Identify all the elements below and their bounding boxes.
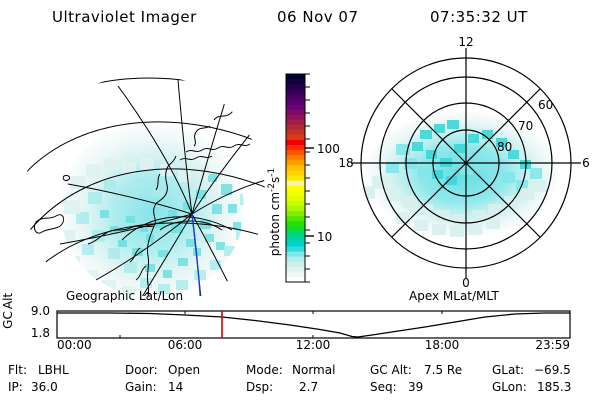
observation-time: 07:35:32 UT: [430, 8, 528, 26]
status-gain-val: 14: [168, 380, 183, 394]
orbit-xtick-2359: 23:59: [535, 338, 570, 350]
status-seq-key: Seq:: [370, 380, 397, 394]
status-glon-key: GLon:: [492, 380, 527, 394]
colorbar-tick-label-100: 100: [317, 142, 340, 156]
colorbar-swatch: [286, 236, 305, 242]
orbit-xtick-0000: 00:00: [57, 338, 92, 350]
colorbar-swatch: [286, 130, 305, 136]
orbit-yaxis-name-gc: GC: [1, 311, 15, 329]
instrument-title: Ultraviolet Imager: [52, 8, 197, 26]
status-mode-val: Normal: [292, 363, 335, 377]
status-ip-key: IP:: [8, 380, 23, 394]
apex-polar-panel: 12 6 0 18 60 70 80: [338, 35, 589, 290]
uvi-display: Ultraviolet Imager 06 Nov 07 07:35:32 UT: [0, 0, 600, 400]
colorbar-swatch: [286, 221, 305, 227]
status-glon-val: 185.3: [537, 380, 571, 394]
colorbar-swatch: [286, 231, 305, 237]
colorbar-swatch: [286, 170, 305, 176]
colorbar-tick-10: 10: [305, 230, 332, 244]
colorbar-swatch: [286, 135, 305, 141]
orbit-plot-area: Geographic Lat/Lon Apex MLat/MLT GC Alt …: [0, 290, 600, 350]
mlt-label-12: 12: [458, 35, 473, 49]
orbit-ytick-top: 9.0: [31, 304, 50, 318]
colorbar-swatch: [286, 84, 305, 90]
mlt-label-6: 6: [582, 156, 590, 170]
svg-text:GC: GC: [1, 311, 15, 329]
colorbar-label-main: photon cm: [268, 192, 282, 256]
svg-text:photon cm-2s-1: photon cm-2s-1: [267, 168, 282, 257]
colorbar-swatch: [286, 252, 305, 258]
status-mode-key: Mode:: [246, 363, 283, 377]
colorbar-swatch: [286, 99, 305, 105]
colorbar-swatch: [286, 145, 305, 151]
colorbar-swatch: [286, 196, 305, 202]
orbit-yaxis-name-alt: Alt: [1, 293, 15, 310]
mlat-label-80: 80: [497, 140, 512, 154]
status-glat-key: GLat:: [492, 363, 524, 377]
colorbar-swatch: [286, 211, 305, 217]
colorbar-swatch: [286, 79, 305, 85]
mlat-label-70: 70: [518, 119, 533, 133]
status-flt-key: Flt:: [8, 363, 27, 377]
colorbar-swatch: [286, 246, 305, 252]
colorbar-tick-label-10: 10: [317, 230, 332, 244]
colorbar-swatch: [286, 201, 305, 207]
orbit-xtick-1200: 12:00: [296, 338, 331, 350]
mlat-label-60: 60: [538, 98, 553, 112]
colorbar-swatch: [286, 186, 305, 192]
status-gcalt-val: 7.5 Re: [424, 363, 462, 377]
colorbar-gradient: [286, 74, 305, 283]
colorbar-swatch: [286, 181, 305, 187]
colorbar-exp-1: -2: [267, 183, 277, 192]
header-svg: Ultraviolet Imager 06 Nov 07 07:35:32 UT: [0, 0, 600, 34]
colorbar-swatch: [286, 160, 305, 166]
colorbar-swatch: [286, 165, 305, 171]
geographic-map-panel: [10, 78, 282, 296]
status-row-1: Flt: LBHL Door: Open Mode: Normal GC Alt…: [8, 363, 571, 377]
observation-date: 06 Nov 07: [277, 8, 359, 26]
orbit-ytick-bottom: 1.8: [31, 326, 50, 340]
orbit-xtick-0600: 06:00: [168, 338, 203, 350]
colorbar-swatch: [286, 110, 305, 116]
status-gain-key: Gain:: [125, 380, 157, 394]
mlt-spokes: [351, 48, 581, 278]
status-flt-val: LBHL: [38, 363, 69, 377]
orbit-frame-ticks: [120, 311, 442, 338]
main-image-area: photon cm-2s-1 100 10: [0, 34, 600, 296]
colorbar-swatch: [286, 120, 305, 126]
status-door-val: Open: [168, 363, 200, 377]
status-footer: Flt: LBHL Door: Open Mode: Normal GC Alt…: [0, 360, 600, 400]
colorbar-swatch: [286, 89, 305, 95]
colorbar-swatch: [286, 191, 305, 197]
status-dsp-key: Dsp:: [246, 380, 273, 394]
status-seq-val: 39: [408, 380, 423, 394]
colorbar-swatch: [286, 175, 305, 181]
colorbar-axis-label: photon cm-2s-1: [267, 168, 282, 257]
colorbar-swatch: [286, 206, 305, 212]
colorbar-ticks: [305, 74, 310, 282]
orbit-altitude-trace: [57, 313, 570, 337]
colorbar-swatch: [286, 226, 305, 232]
colorbar-swatch: [286, 262, 305, 268]
colorbar-panel: photon cm-2s-1 100 10: [267, 74, 340, 283]
colorbar-swatch: [286, 257, 305, 263]
colorbar-swatch: [286, 104, 305, 110]
caption-left-panel: Geographic Lat/Lon: [66, 290, 183, 303]
colorbar-tick-100: 100: [305, 142, 340, 156]
header-bar: Ultraviolet Imager 06 Nov 07 07:35:32 UT: [0, 0, 600, 34]
mlt-label-18: 18: [338, 156, 353, 170]
colorbar-swatch: [286, 150, 305, 156]
svg-text:Alt: Alt: [1, 293, 15, 310]
colorbar-swatch: [286, 115, 305, 121]
mlt-label-0: 0: [462, 276, 470, 290]
colorbar-swatch: [286, 125, 305, 131]
status-glat-val: −69.5: [534, 363, 571, 377]
colorbar-swatch: [286, 140, 305, 146]
colorbar-swatch: [286, 155, 305, 161]
colorbar-swatch: [286, 216, 305, 222]
caption-right-panel: Apex MLat/MLT: [409, 290, 499, 303]
status-dsp-val: 2.7: [299, 380, 318, 394]
colorbar-swatch: [286, 241, 305, 247]
orbit-xtick-1800: 18:00: [425, 338, 460, 350]
colorbar-exp-2: -1: [267, 168, 277, 177]
status-row-2: IP: 36.0 Gain: 14 Dsp: 2.7 Seq: 39 GLon:…: [8, 380, 571, 394]
orbit-plot-frame: [57, 311, 570, 338]
status-gcalt-key: GC Alt:: [370, 363, 412, 377]
colorbar-swatch: [286, 272, 305, 278]
colorbar-swatch: [286, 74, 305, 80]
colorbar-swatch: [286, 94, 305, 100]
status-door-key: Door:: [125, 363, 158, 377]
colorbar-swatch: [286, 267, 305, 273]
status-ip-val: 36.0: [31, 380, 58, 394]
